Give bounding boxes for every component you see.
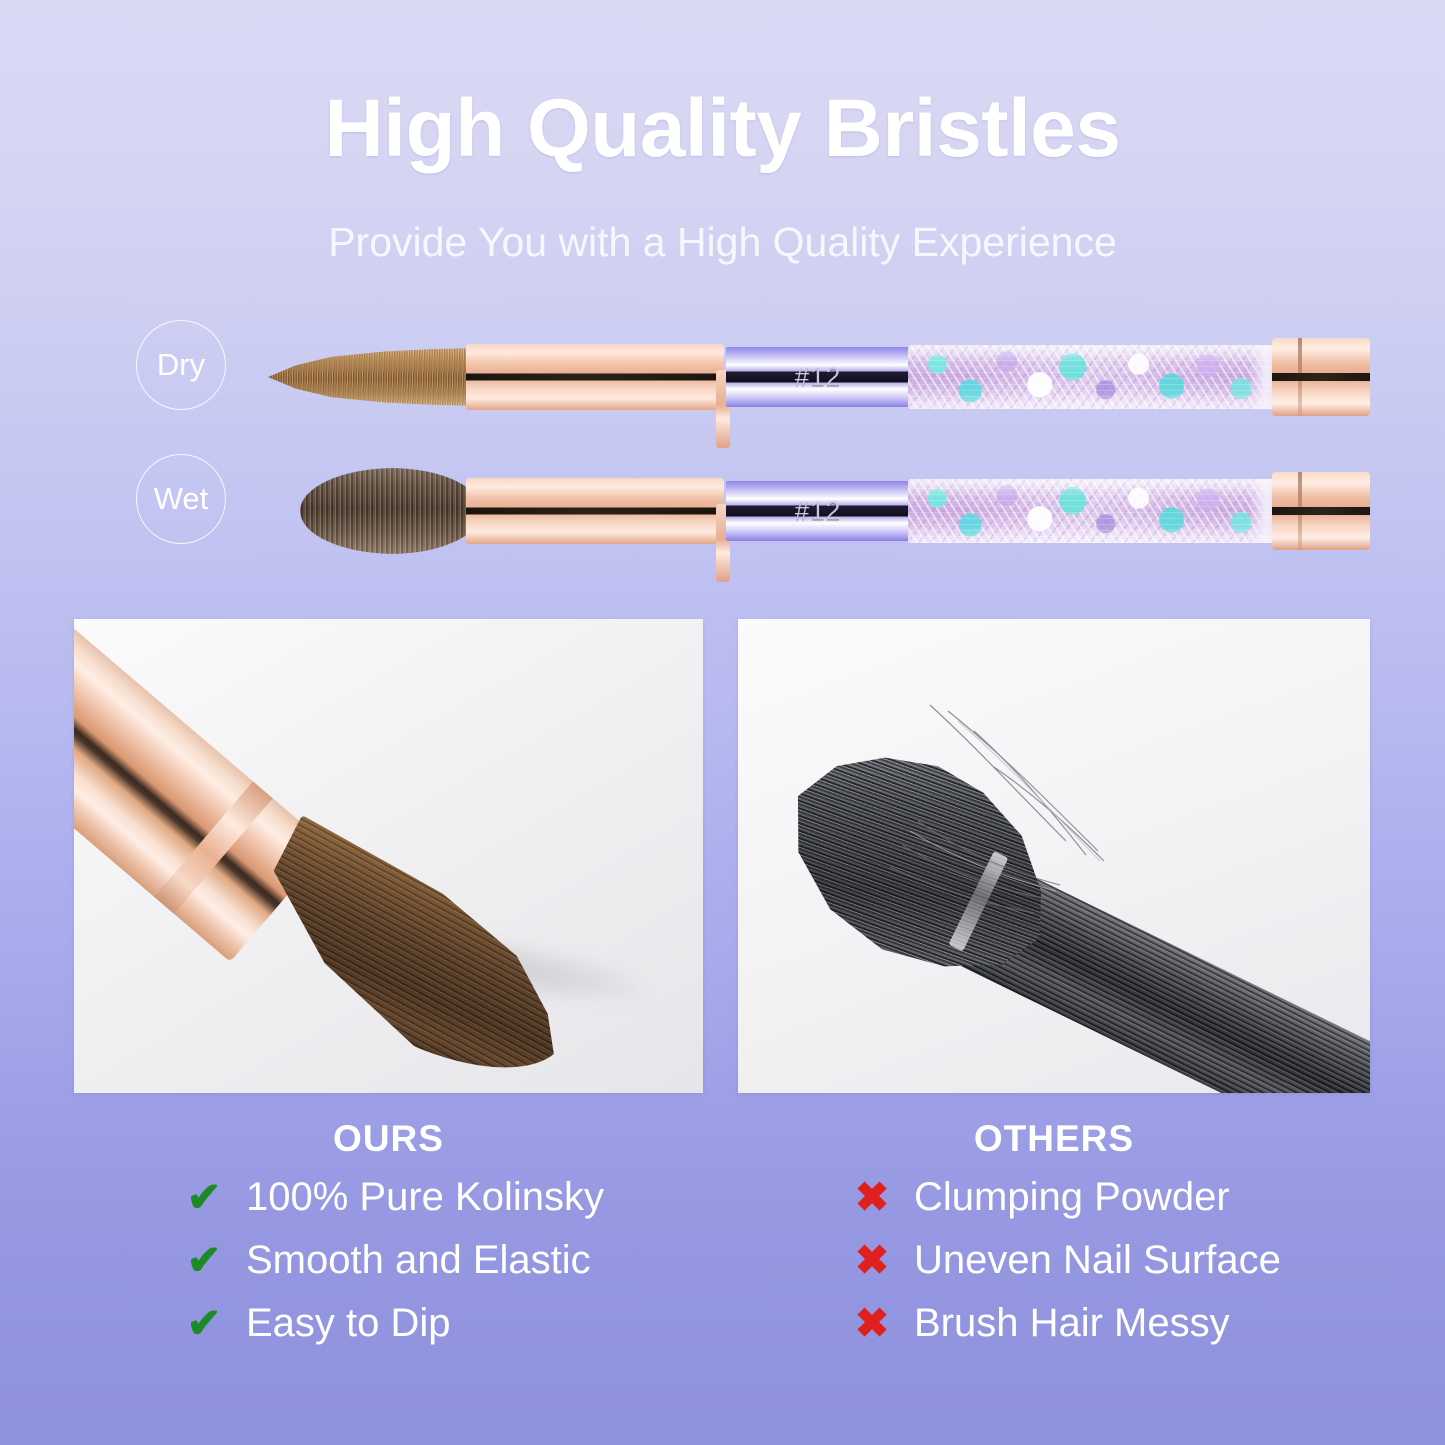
list-item-label: 100% Pure Kolinsky: [246, 1175, 604, 1220]
column-heading-others: OTHERS: [738, 1118, 1370, 1160]
list-item-label: Clumping Powder: [914, 1175, 1230, 1220]
cross-icon: ✖: [852, 1304, 892, 1344]
check-icon: ✔: [184, 1178, 224, 1218]
list-item-label: Uneven Nail Surface: [914, 1238, 1281, 1283]
cross-icon: ✖: [852, 1241, 892, 1281]
ferrule-seam-icon: [466, 508, 724, 515]
list-item: ✔ 100% Pure Kolinsky: [184, 1166, 604, 1229]
state-badge-wet-label: Wet: [154, 481, 209, 517]
list-item: ✖ Clumping Powder: [852, 1166, 1281, 1229]
photo-others-stray-hairs-icon: [798, 671, 1198, 951]
feature-list-others: ✖ Clumping Powder ✖ Uneven Nail Surface …: [852, 1166, 1281, 1355]
page-title: High Quality Bristles: [0, 88, 1445, 170]
end-cap-dry: [1272, 338, 1370, 416]
glitter-cap-fade: [1248, 345, 1274, 409]
mid-handle-dry: #12: [726, 347, 910, 407]
list-item: ✖ Uneven Nail Surface: [852, 1229, 1281, 1292]
photo-others: [738, 619, 1370, 1093]
check-icon: ✔: [184, 1241, 224, 1281]
ferrule-dry: [466, 344, 724, 410]
ferrule-wet: [466, 478, 724, 544]
page-subtitle: Provide You with a High Quality Experien…: [0, 222, 1445, 263]
end-cap-seam-icon: [1272, 373, 1370, 381]
list-item-label: Brush Hair Messy: [914, 1301, 1230, 1346]
glitter-handle-dry: [908, 345, 1274, 409]
handle-size-label-dry: #12: [726, 362, 910, 393]
state-badge-dry-label: Dry: [157, 347, 205, 383]
glitter-handle-wet: [908, 479, 1274, 543]
check-icon: ✔: [184, 1304, 224, 1344]
glitter-cap-fade: [1248, 479, 1274, 543]
list-item: ✖ Brush Hair Messy: [852, 1292, 1281, 1355]
feature-list-ours: ✔ 100% Pure Kolinsky ✔ Smooth and Elasti…: [184, 1166, 604, 1355]
photo-ours: [74, 619, 703, 1093]
bristle-tip-dry: [268, 348, 480, 406]
end-cap-wet: [1272, 472, 1370, 550]
handle-size-label-wet: #12: [726, 496, 910, 527]
column-heading-ours: OURS: [74, 1118, 703, 1160]
infographic-canvas: High Quality Bristles Provide You with a…: [0, 0, 1445, 1445]
photo-ours-ferrule-edge: [154, 781, 272, 913]
ferrule-seam-icon: [466, 374, 724, 381]
list-item-label: Easy to Dip: [246, 1301, 451, 1346]
list-item: ✔ Easy to Dip: [184, 1292, 604, 1355]
bristle-tip-wet: [300, 468, 482, 554]
end-cap-seam-icon: [1272, 507, 1370, 515]
brush-row-wet: Wet #12: [0, 446, 1445, 581]
cross-icon: ✖: [852, 1178, 892, 1218]
list-item: ✔ Smooth and Elastic: [184, 1229, 604, 1292]
brush-row-dry: Dry #12: [0, 312, 1445, 447]
mid-handle-wet: #12: [726, 481, 910, 541]
state-badge-wet: Wet: [136, 454, 226, 544]
state-badge-dry: Dry: [136, 320, 226, 410]
list-item-label: Smooth and Elastic: [246, 1238, 591, 1283]
